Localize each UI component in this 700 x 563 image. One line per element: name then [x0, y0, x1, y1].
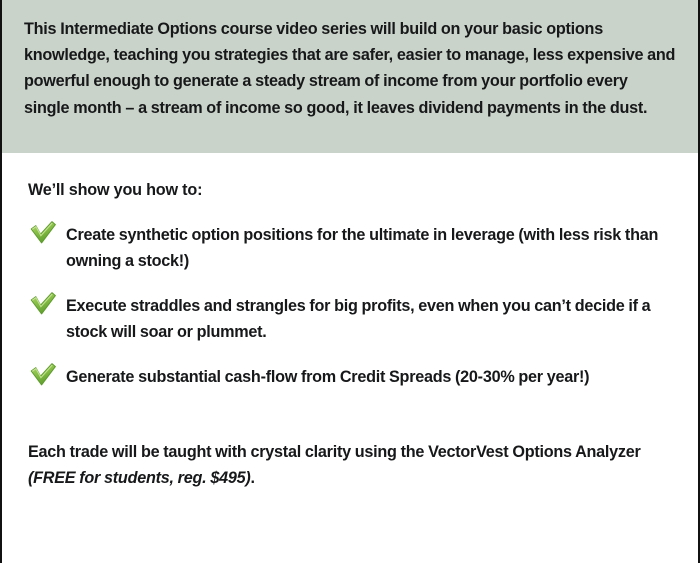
closing-lead-text: Each trade will be taught with crystal c… [28, 443, 641, 461]
green-check-icon [28, 220, 58, 248]
list-item-text: Execute straddles and strangles for big … [66, 294, 676, 345]
closing-paragraph: Each trade will be taught with crystal c… [28, 439, 676, 491]
green-check-icon [28, 362, 58, 390]
list-item: Execute straddles and strangles for big … [28, 294, 676, 345]
promo-card: This Intermediate Options course video s… [0, 0, 700, 563]
closing-trailing-period: . [250, 469, 254, 487]
list-item-text: Generate substantial cash-flow from Cred… [66, 365, 589, 391]
green-check-icon [28, 291, 58, 319]
header-band: This Intermediate Options course video s… [2, 0, 698, 153]
list-item: Create synthetic option positions for th… [28, 223, 676, 274]
body-area: We’ll show you how to: [2, 153, 698, 491]
header-paragraph: This Intermediate Options course video s… [24, 16, 676, 121]
benefits-list: Create synthetic option positions for th… [28, 223, 676, 391]
lead-line: We’ll show you how to: [28, 179, 676, 201]
closing-italic-note: (FREE for students, reg. $495) [28, 469, 250, 487]
list-item-text: Create synthetic option positions for th… [66, 223, 676, 274]
list-item: Generate substantial cash-flow from Cred… [28, 365, 676, 391]
